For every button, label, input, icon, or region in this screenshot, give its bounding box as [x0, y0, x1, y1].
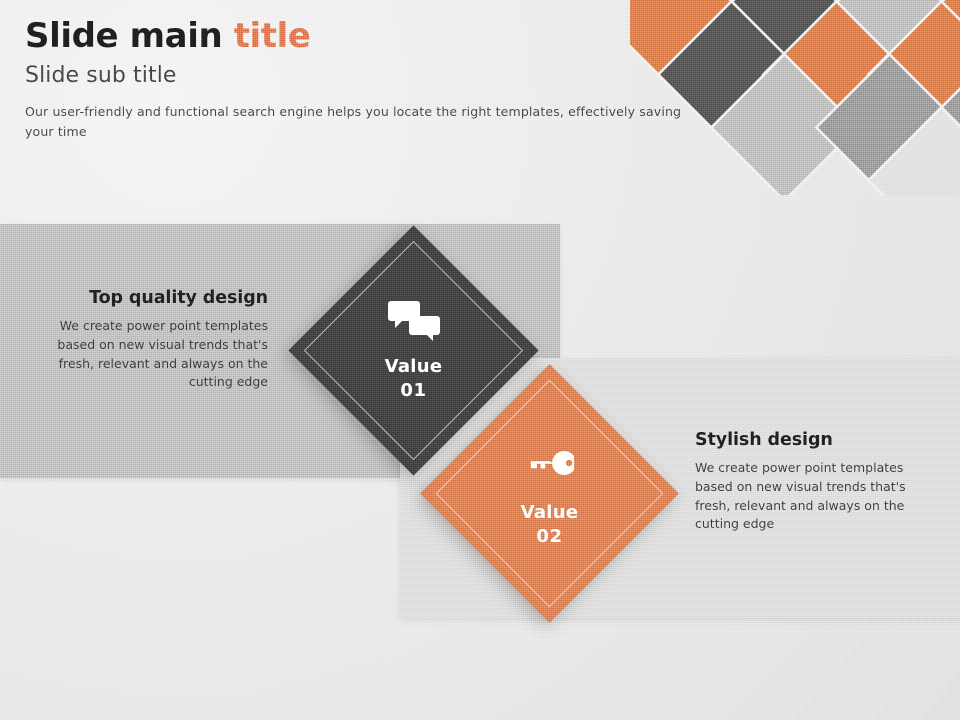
diamond-number: 01 [400, 380, 426, 403]
key-icon [526, 439, 574, 491]
text-block-stylish-design: Stylish design We create power point tem… [695, 430, 923, 534]
diamond-label: Value [521, 502, 579, 525]
text-block-top-quality-design: Top quality design We create power point… [40, 288, 268, 392]
text-block-body: We create power point templates based on… [40, 317, 268, 392]
slide-header: Slide main title Slide sub title Our use… [25, 18, 725, 141]
diamond-number: 02 [536, 526, 562, 549]
diamond-content: Value 02 [458, 402, 641, 585]
slide-canvas: Slide main title Slide sub title Our use… [0, 0, 960, 720]
page-title-accent: title [234, 16, 311, 56]
page-title-main: Slide main [25, 16, 234, 56]
page-lead-paragraph: Our user-friendly and functional search … [25, 102, 697, 141]
page-title: Slide main title [25, 18, 725, 55]
text-block-heading: Stylish design [695, 430, 923, 450]
text-block-heading: Top quality design [40, 288, 268, 308]
text-block-body: We create power point templates based on… [695, 459, 923, 534]
page-subtitle: Slide sub title [25, 63, 725, 88]
value-diamond-02[interactable]: Value 02 [420, 364, 679, 623]
diamond-label: Value [385, 356, 443, 379]
chat-bubbles-icon [388, 299, 440, 345]
